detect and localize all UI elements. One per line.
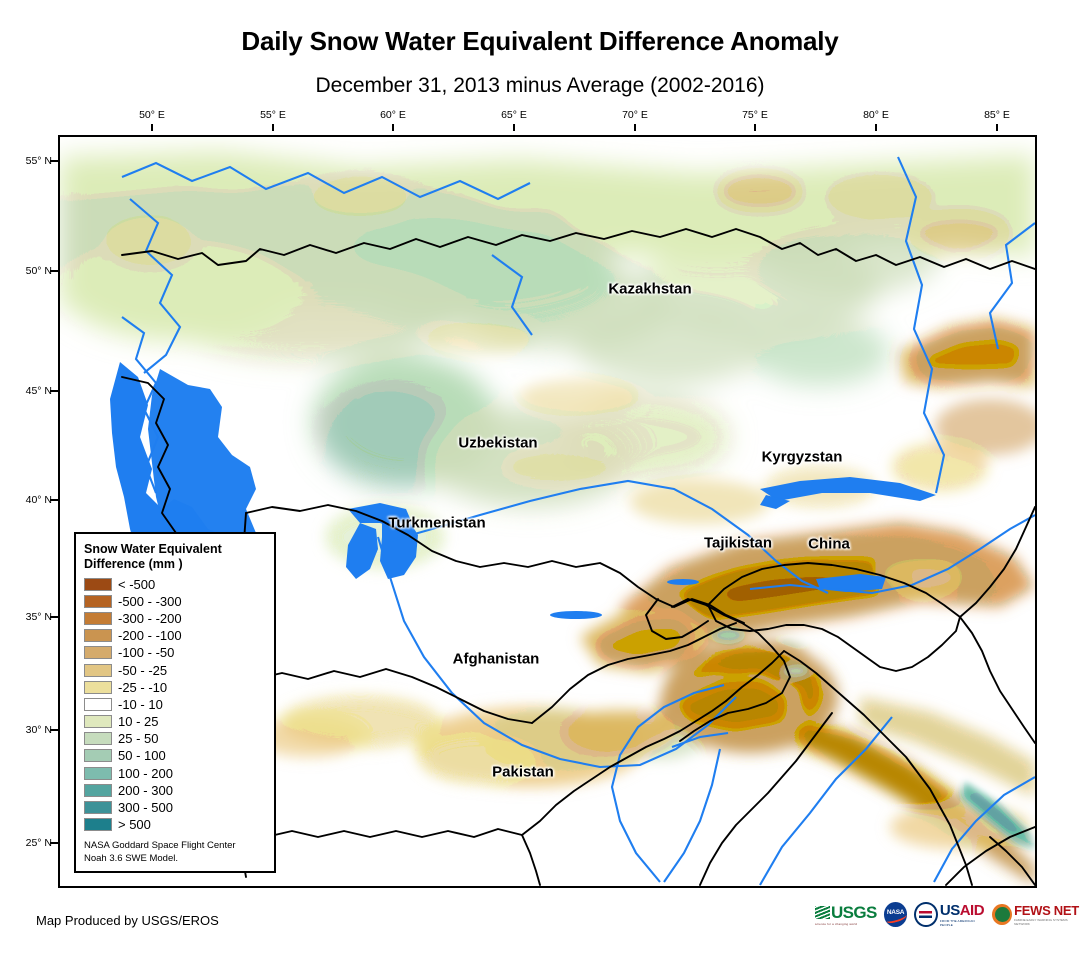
lon-label-60e: 60° E xyxy=(380,109,406,121)
legend-row: -50 - -25 xyxy=(84,661,266,678)
legend-swatch xyxy=(84,801,112,814)
legend-row: -200 - -100 xyxy=(84,627,266,644)
usgs-tagline: science for a changing world xyxy=(815,922,857,926)
lat-tick-35n xyxy=(50,616,58,618)
legend-row: 300 - 500 xyxy=(84,799,266,816)
legend-swatch xyxy=(84,749,112,762)
legend-note-line2: Noah 3.6 SWE Model. xyxy=(84,853,266,866)
lat-label-50n: 50° N xyxy=(22,265,52,277)
legend-row: > 500 xyxy=(84,816,266,833)
legend-row: 25 - 50 xyxy=(84,730,266,747)
legend-swatch xyxy=(84,646,112,659)
legend-swatch xyxy=(84,818,112,831)
lat-label-25n: 25° N xyxy=(22,837,52,849)
usgs-logo[interactable]: USGS science for a changing world xyxy=(815,904,877,926)
legend-note-line1: NASA Goddard Space Flight Center xyxy=(84,840,266,853)
usaid-text: USAID FROM THE AMERICAN PEOPLE xyxy=(940,903,986,927)
legend-row: -500 - -300 xyxy=(84,593,266,610)
usaid-tagline: FROM THE AMERICAN PEOPLE xyxy=(940,919,986,927)
fews-text: FEWS NET FAMINE EARLY WARNING SYSTEMS NE… xyxy=(1014,904,1080,926)
lon-tick-65e xyxy=(513,124,515,131)
legend-row: -300 - -200 xyxy=(84,610,266,627)
lat-tick-55n xyxy=(50,160,58,162)
fews-net-logo[interactable]: FEWS NET FAMINE EARLY WARNING SYSTEMS NE… xyxy=(992,904,1080,926)
legend-swatch xyxy=(84,715,112,728)
legend-note: NASA Goddard Space Flight Center Noah 3.… xyxy=(84,840,266,865)
legend-label: 200 - 300 xyxy=(118,784,173,797)
legend-row: 50 - 100 xyxy=(84,747,266,764)
fews-globe-icon xyxy=(992,904,1012,925)
lon-tick-60e xyxy=(392,124,394,131)
lat-tick-50n xyxy=(50,270,58,272)
legend-row: 100 - 200 xyxy=(84,765,266,782)
legend-swatch xyxy=(84,629,112,642)
legend-swatch xyxy=(84,578,112,591)
country-label-pakistan: Pakistan xyxy=(492,764,554,781)
legend-swatch xyxy=(84,732,112,745)
lon-tick-55e xyxy=(272,124,274,131)
country-label-tajikistan: Tajikistan xyxy=(704,535,772,552)
legend-row: -100 - -50 xyxy=(84,644,266,661)
legend-row: -25 - -10 xyxy=(84,679,266,696)
lon-tick-85e xyxy=(996,124,998,131)
usaid-seal-icon xyxy=(914,902,938,927)
legend-label: -300 - -200 xyxy=(118,612,182,625)
page-subtitle: December 31, 2013 minus Average (2002-20… xyxy=(0,74,1080,98)
country-label-china: China xyxy=(808,536,850,553)
legend-label: 50 - 100 xyxy=(118,749,166,762)
country-label-uzbekistan: Uzbekistan xyxy=(458,435,537,452)
lon-label-80e: 80° E xyxy=(863,109,889,121)
lat-tick-45n xyxy=(50,390,58,392)
lon-label-65e: 65° E xyxy=(501,109,527,121)
lat-label-55n: 55° N xyxy=(22,155,52,167)
lat-tick-25n xyxy=(50,842,58,844)
lat-tick-40n xyxy=(50,499,58,501)
legend-title-line2: Difference (mm ) xyxy=(84,557,266,572)
country-label-afghanistan: Afghanistan xyxy=(453,651,540,668)
nasa-logo[interactable]: NASA xyxy=(884,902,907,927)
legend-title: Snow Water Equivalent Difference (mm ) xyxy=(84,542,266,572)
map-credit: Map Produced by USGS/EROS xyxy=(36,913,219,928)
legend-label: -200 - -100 xyxy=(118,629,182,642)
usgs-wave-icon xyxy=(815,906,830,919)
lon-label-75e: 75° E xyxy=(742,109,768,121)
legend-title-line1: Snow Water Equivalent xyxy=(84,542,266,557)
country-label-kyrgyzstan: Kyrgyzstan xyxy=(762,449,843,466)
legend-swatch xyxy=(84,612,112,625)
usaid-word-us: US xyxy=(940,902,960,919)
country-label-kazakhstan: Kazakhstan xyxy=(608,281,691,298)
fews-wordmark: FEWS NET xyxy=(1014,904,1080,917)
legend-label: -500 - -300 xyxy=(118,595,182,608)
legend-label: -100 - -50 xyxy=(118,646,174,659)
lon-label-70e: 70° E xyxy=(622,109,648,121)
fews-tagline: FAMINE EARLY WARNING SYSTEMS NETWORK xyxy=(1014,918,1080,926)
legend-swatch xyxy=(84,664,112,677)
usaid-wordmark: USAID xyxy=(940,903,986,918)
legend-swatch xyxy=(84,767,112,780)
lat-label-40n: 40° N xyxy=(22,494,52,506)
usaid-word-aid: AID xyxy=(960,902,984,919)
lon-tick-50e xyxy=(151,124,153,131)
legend-label: < -500 xyxy=(118,578,155,591)
usgs-wordmark: USGS xyxy=(831,904,877,921)
legend-swatch xyxy=(84,698,112,711)
map-legend[interactable]: Snow Water Equivalent Difference (mm ) <… xyxy=(74,532,276,873)
legend-label: > 500 xyxy=(118,818,151,831)
lon-tick-70e xyxy=(634,124,636,131)
lon-label-85e: 85° E xyxy=(984,109,1010,121)
legend-label: 10 - 25 xyxy=(118,715,158,728)
legend-swatch xyxy=(84,681,112,694)
lon-tick-80e xyxy=(875,124,877,131)
lat-label-30n: 30° N xyxy=(22,724,52,736)
legend-swatch xyxy=(84,595,112,608)
legend-row: < -500 xyxy=(84,576,266,593)
usgs-logo-top: USGS xyxy=(815,904,877,921)
lon-tick-75e xyxy=(754,124,756,131)
legend-swatch xyxy=(84,784,112,797)
legend-row: 10 - 25 xyxy=(84,713,266,730)
lat-label-45n: 45° N xyxy=(22,385,52,397)
legend-label: -25 - -10 xyxy=(118,681,167,694)
agency-logos: USGS science for a changing world NASA U… xyxy=(815,902,1080,927)
lon-label-55e: 55° E xyxy=(260,109,286,121)
legend-row: -10 - 10 xyxy=(84,696,266,713)
lon-label-50e: 50° E xyxy=(139,109,165,121)
legend-label: 100 - 200 xyxy=(118,767,173,780)
legend-label: -10 - 10 xyxy=(118,698,163,711)
lat-tick-30n xyxy=(50,729,58,731)
legend-label: 25 - 50 xyxy=(118,732,158,745)
legend-label: 300 - 500 xyxy=(118,801,173,814)
usaid-logo[interactable]: USAID FROM THE AMERICAN PEOPLE xyxy=(914,902,985,927)
legend-row: 200 - 300 xyxy=(84,782,266,799)
country-label-turkmenistan: Turkmenistan xyxy=(388,515,485,532)
legend-label: -50 - -25 xyxy=(118,664,167,677)
page-title: Daily Snow Water Equivalent Difference A… xyxy=(0,26,1080,57)
lat-label-35n: 35° N xyxy=(22,611,52,623)
legend-items: < -500-500 - -300-300 - -200-200 - -100-… xyxy=(84,576,266,834)
